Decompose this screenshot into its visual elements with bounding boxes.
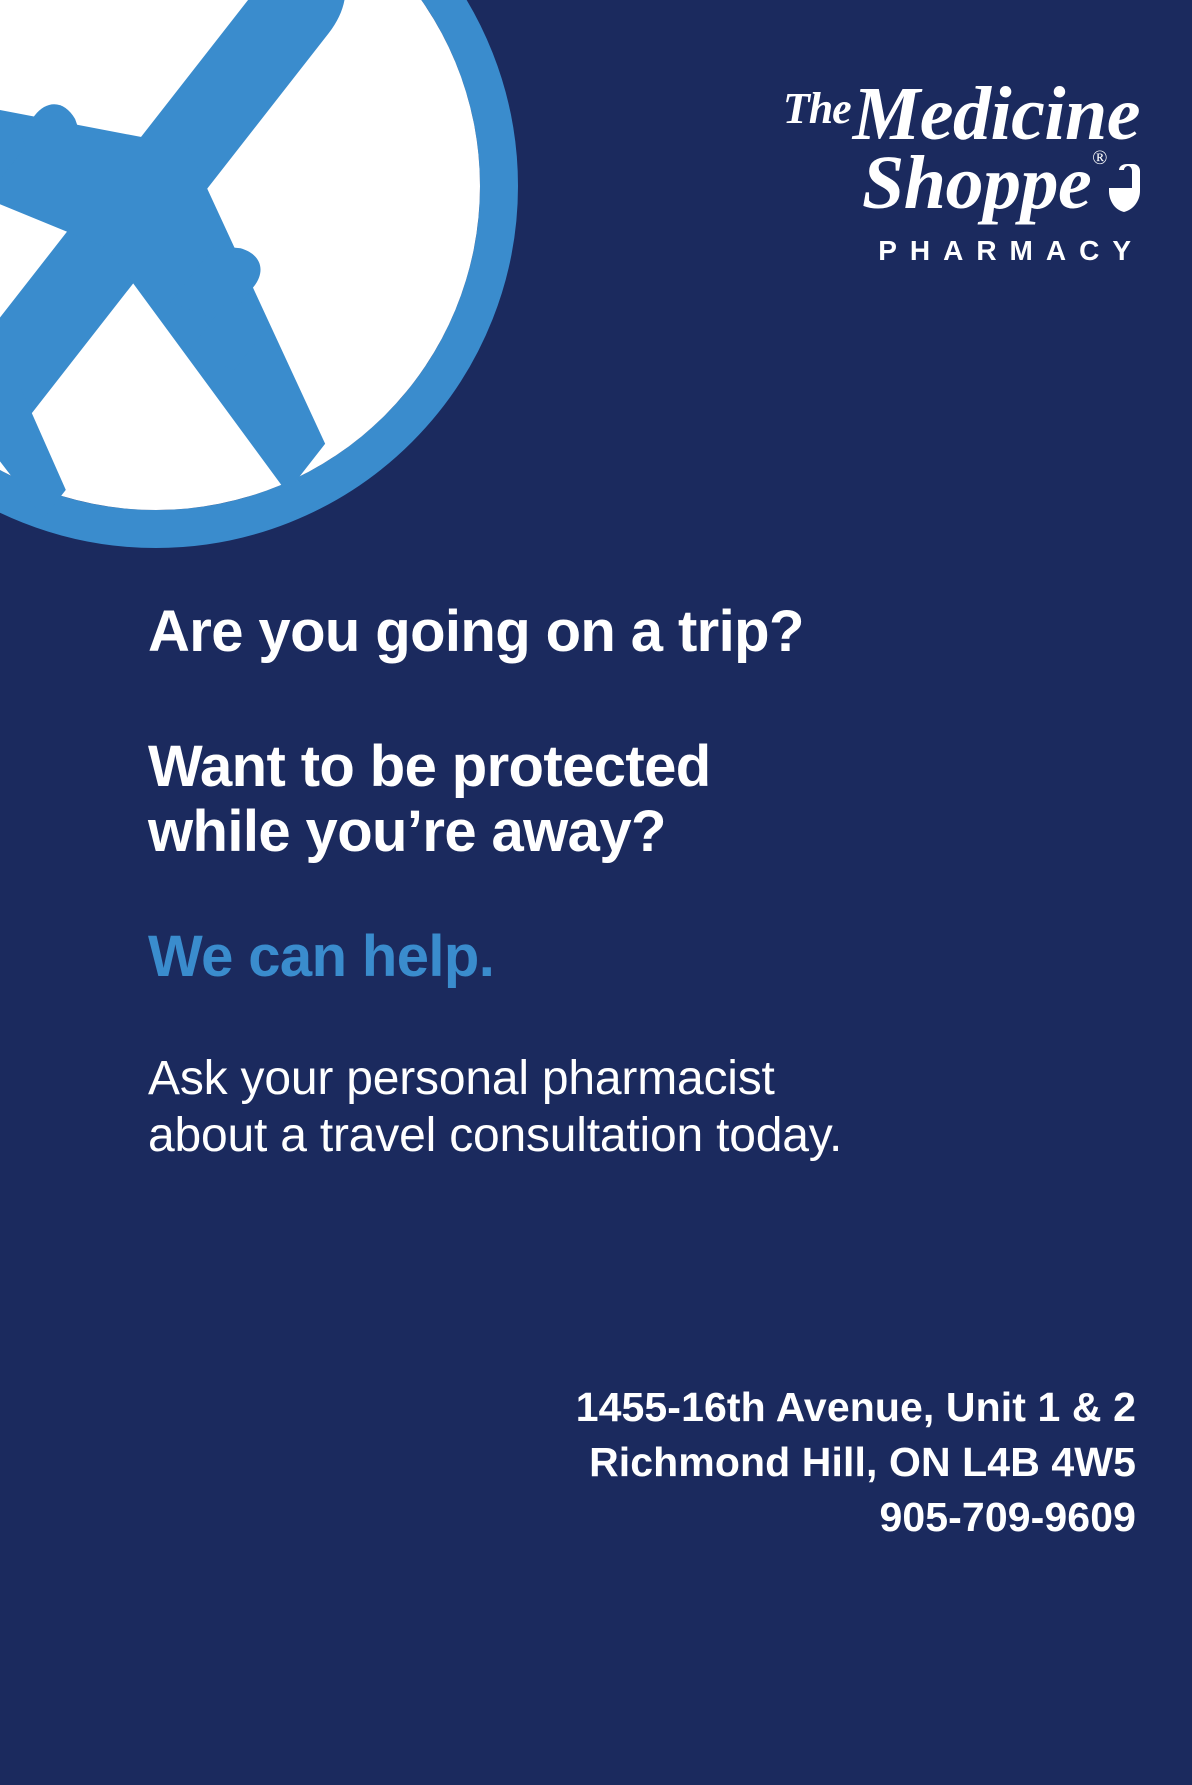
- logo-the-text: The: [783, 84, 853, 133]
- registered-trademark-icon: ®: [1092, 147, 1107, 169]
- mortar-pestle-icon: [1108, 162, 1142, 214]
- poster-copy: Are you going on a trip? Want to be prot…: [148, 600, 1048, 1165]
- address-line-1: 1455-16th Avenue, Unit 1 & 2: [576, 1380, 1136, 1435]
- travel-consultation-poster: TheMedicine Shoppe® PHARMACY Are you goi…: [0, 0, 1192, 1785]
- logo-shoppe-text: Shoppe: [862, 141, 1091, 225]
- tagline-we-can-help: We can help.: [148, 925, 1048, 990]
- contact-block: 1455-16th Avenue, Unit 1 & 2 Richmond Hi…: [576, 1380, 1136, 1545]
- brand-logo: TheMedicine Shoppe® PHARMACY: [724, 78, 1144, 267]
- headline-protected: Want to be protected while you’re away?: [148, 735, 1048, 865]
- phone-number: 905-709-9609: [576, 1490, 1136, 1545]
- subcopy-travel-consultation: Ask your personal pharmacist about a tra…: [148, 1050, 1048, 1165]
- logo-line-shoppe: Shoppe®: [724, 145, 1144, 221]
- logo-wordmark: TheMedicine Shoppe®: [724, 78, 1144, 221]
- address-line-2: Richmond Hill, ON L4B 4W5: [576, 1435, 1136, 1490]
- airplane-in-circle-icon: [0, 0, 537, 567]
- logo-pharmacy-text: PHARMACY: [724, 235, 1144, 267]
- headline-trip: Are you going on a trip?: [148, 600, 1048, 665]
